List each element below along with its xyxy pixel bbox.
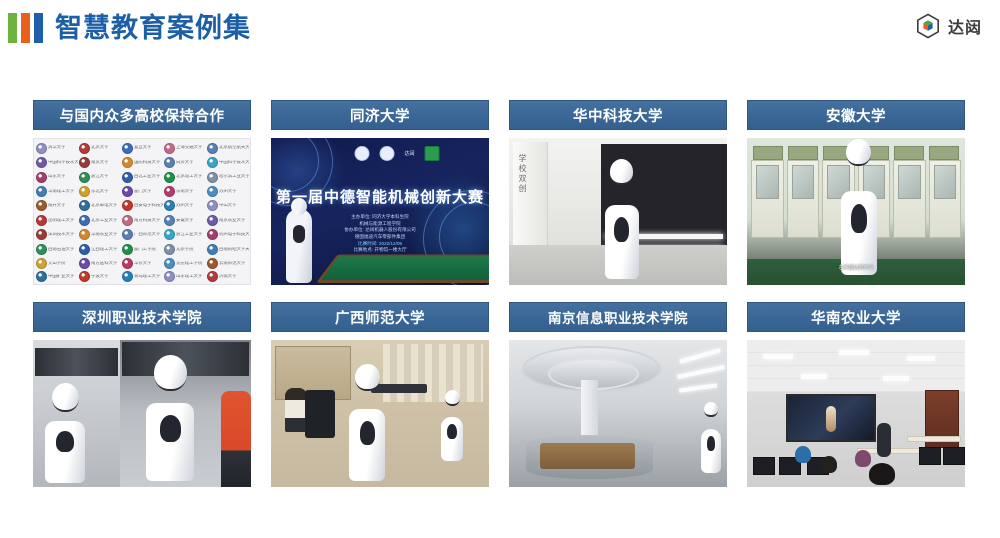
university-name: 哈尔滨工业大学 <box>219 175 249 179</box>
case-cell-tongji[interactable]: 同济大学 达闼 第一届中德智能机械创新大赛 主办单位: 同济大学本科生院 机械与… <box>271 100 489 285</box>
university-name: 南方科技大学 <box>134 218 160 222</box>
university-logo-item: 深圳技术大学 <box>35 228 78 242</box>
university-name: 清华大学 <box>48 146 66 150</box>
university-logo-item: 西北工业大学 <box>121 170 164 184</box>
university-name: 上海交通大学 <box>176 146 202 150</box>
university-name: 江西理工大学 <box>91 247 117 251</box>
university-name: 北京大学 <box>91 146 109 150</box>
university-logo-item: 青岛理工大学 <box>121 271 164 282</box>
robot-graphic <box>146 403 194 481</box>
monitor <box>753 457 775 475</box>
competition-poster-image: 达闼 第一届中德智能机械创新大赛 主办单位: 同济大学本科生院 机械与能源工程学… <box>271 138 489 285</box>
university-logo-item: 昆明理工大学 <box>35 213 78 227</box>
accent-bar-blue <box>34 13 43 43</box>
university-logo-item: 中山大学 <box>206 199 249 213</box>
cabinet <box>787 160 820 238</box>
university-name: 安徽大学 <box>176 218 194 222</box>
university-seal-icon <box>79 215 90 226</box>
case-title: 广西师范大学 <box>271 302 489 332</box>
storage-box <box>894 146 924 160</box>
university-seal-icon <box>36 172 47 183</box>
university-logo-item: 西安电子科技大学 <box>121 199 164 213</box>
university-seal-icon <box>207 157 218 168</box>
brand-seal-icon <box>379 146 394 161</box>
university-logo-item: 北京邮电大学 <box>78 199 121 213</box>
led-light <box>679 348 720 363</box>
photo-panel-left <box>33 340 120 487</box>
case-cell-anhui[interactable]: 安徽大学 <box>747 100 965 285</box>
university-name: 杭州电子科技大学 <box>219 233 249 237</box>
university-name: 广西师范大学 <box>134 233 160 237</box>
university-seal-icon <box>164 258 175 269</box>
university-logo-item: 中国矿业大学 <box>35 271 78 282</box>
led-light <box>679 383 717 392</box>
university-seal-icon <box>122 229 133 240</box>
university-name: 山东大学 <box>48 175 66 179</box>
hexagon-cube-logo-icon <box>915 13 941 39</box>
university-logo-item: 东莞理工学院 <box>163 257 206 271</box>
university-seal-icon <box>79 258 90 269</box>
university-seal-icon <box>207 244 218 255</box>
university-name: 厦门大学 <box>134 189 152 193</box>
university-logo-item: 浙江工业大学 <box>163 228 206 242</box>
person-figure <box>221 391 251 487</box>
futuristic-hall-image <box>509 340 727 487</box>
university-logo-item: 西南石油大学 <box>35 242 78 256</box>
university-seal-icon <box>164 186 175 197</box>
university-seal-icon <box>79 229 90 240</box>
university-logo-item: 安徽大学 <box>163 213 206 227</box>
cabinet-glass <box>934 165 957 199</box>
case-title: 深圳职业技术学院 <box>33 302 251 332</box>
corridor-robot-image: 学校双创 <box>509 138 727 285</box>
case-cell-szpt[interactable]: 深圳职业技术学院 <box>33 302 251 487</box>
university-name: 济南大学 <box>219 274 237 278</box>
university-seal-icon <box>36 229 47 240</box>
university-logo-item: 南方医科大学 <box>78 257 121 271</box>
university-logo-item: 山东理工大学 <box>163 271 206 282</box>
university-logo-item: 复旦大学 <box>121 141 164 155</box>
video-caption: 右手握边界命令 <box>747 264 965 271</box>
storage-box <box>788 146 818 160</box>
university-seal-icon <box>122 157 133 168</box>
accent-bars <box>8 13 43 43</box>
university-seal-icon <box>164 157 175 168</box>
person-figure <box>285 388 307 432</box>
university-seal-icon <box>207 215 218 226</box>
university-seal-icon <box>36 200 47 211</box>
university-seal-icon <box>122 186 133 197</box>
university-seal-icon <box>36 157 47 168</box>
storage-box <box>753 146 783 160</box>
university-name: 中国科学技术大学 <box>48 160 78 164</box>
university-logo-item: 上海交通大学 <box>163 141 206 155</box>
university-name: 北京航空航天大学 <box>219 146 249 150</box>
university-seal-icon <box>36 186 47 197</box>
university-name: 西南财经大学天府学院 <box>219 247 249 251</box>
case-cell-gxnu[interactable]: 广西师范大学 <box>271 302 489 487</box>
university-logo-item: 南方科技大学 <box>121 213 164 227</box>
university-name: 深圳技术大学 <box>48 233 74 237</box>
university-logo-item: 云南师范大学 <box>206 257 249 271</box>
university-seal-icon <box>164 271 175 282</box>
accent-bar-green <box>8 13 17 43</box>
university-name: 东南大学 <box>176 189 194 193</box>
robot-graphic <box>701 429 721 473</box>
university-logo-item: 同济大学 <box>163 155 206 169</box>
university-logo-item: 中国科学技术大学 <box>35 155 78 169</box>
university-logo-item: 西南财经大学天府学院 <box>206 242 249 256</box>
monitor <box>943 447 965 465</box>
university-name: 复旦大学 <box>134 146 152 150</box>
university-name: 昆明理工大学 <box>48 218 74 222</box>
university-seal-icon <box>207 186 218 197</box>
sponsor-seal-icon <box>425 146 440 161</box>
person-figure <box>877 423 891 457</box>
case-title: 与国内众多高校保持合作 <box>33 100 251 130</box>
case-media: 清华大学北京大学复旦大学上海交通大学北京航空航天大学中国科学技术大学南京大学国防… <box>33 138 251 285</box>
university-name: 南方医科大学 <box>91 262 117 266</box>
university-name: 南开大学 <box>48 204 66 208</box>
case-media <box>509 340 727 487</box>
university-seal-icon <box>122 258 133 269</box>
ceiling-lamp <box>883 376 909 381</box>
poster-logo-label: 达闼 <box>404 150 414 157</box>
page-header: 智慧教育案例集 达闼 <box>0 0 1000 56</box>
university-seal-icon <box>207 143 218 154</box>
cabinet-glass <box>756 165 779 199</box>
accent-bar-orange <box>21 13 30 43</box>
ceiling <box>747 340 965 392</box>
university-seal-icon <box>79 143 90 154</box>
robot-graphic <box>841 191 877 275</box>
case-media: 学校双创 <box>509 138 727 285</box>
classroom-robots-image <box>271 340 489 487</box>
university-logo-item: 苏州大学 <box>206 184 249 198</box>
university-name: 云南师范大学 <box>219 262 245 266</box>
cabinet <box>893 160 926 238</box>
ceiling-lamp <box>907 356 935 361</box>
window-strip <box>35 348 118 376</box>
desk-row <box>751 431 961 483</box>
university-seal-icon <box>79 200 90 211</box>
person-figure <box>855 450 871 467</box>
university-seal-icon <box>354 146 369 161</box>
university-logo-item: 宁波大学 <box>78 271 121 282</box>
university-name: 山东理工大学 <box>176 274 202 278</box>
case-title: 安徽大学 <box>747 100 965 130</box>
university-logo-item: 华南理工大学 <box>35 184 78 198</box>
university-seal-icon <box>207 229 218 240</box>
university-seal-icon <box>207 271 218 282</box>
case-media: 达闼 第一届中德智能机械创新大赛 主办单位: 同济大学本科生院 机械与能源工程学… <box>271 138 489 285</box>
university-name: 华南农业大学 <box>91 233 117 237</box>
university-name: 南京大学 <box>91 160 109 164</box>
university-name: 中国矿业大学 <box>48 274 74 278</box>
university-name: 西北工业大学 <box>134 175 160 179</box>
university-logo-item: 厦门工学院 <box>121 242 164 256</box>
university-name: 同济大学 <box>176 160 194 164</box>
university-logo-item: 南京农业大学 <box>206 213 249 227</box>
university-logo-item: 济南大学 <box>206 271 249 282</box>
cabinet-glass <box>898 165 921 199</box>
university-name: 中山大学 <box>219 204 237 208</box>
university-logo-wall: 清华大学北京大学复旦大学上海交通大学北京航空航天大学中国科学技术大学南京大学国防… <box>33 138 251 285</box>
case-media: 右手握边界命令 <box>747 138 965 285</box>
case-cell-scau[interactable]: 华南农业大学 <box>747 302 965 487</box>
service-robots-image <box>33 340 251 487</box>
university-seal-icon <box>207 172 218 183</box>
university-logo-item: 东北大学 <box>78 184 121 198</box>
university-logo-item: 北京大学 <box>78 141 121 155</box>
ceiling-lamp <box>763 354 793 359</box>
university-name: 国防科技大学 <box>134 160 160 164</box>
robot-graphic <box>441 417 463 461</box>
university-name: 西南石油大学 <box>48 247 74 251</box>
university-seal-icon <box>122 215 133 226</box>
university-seal-icon <box>36 143 47 154</box>
ceiling-lamp <box>839 350 869 355</box>
brand-logo: 达闼 <box>915 10 982 42</box>
robot-graphic <box>605 205 639 279</box>
university-name: 苏州大学 <box>176 204 194 208</box>
university-seal-icon <box>164 200 175 211</box>
page-title: 智慧教育案例集 <box>55 15 251 42</box>
case-title: 南京信息职业技术学院 <box>509 302 727 332</box>
university-seal-icon <box>79 244 90 255</box>
computer-classroom-image <box>747 340 965 487</box>
university-logo-item: 南开大学 <box>35 199 78 213</box>
university-seal-icon <box>207 258 218 269</box>
cabinet <box>751 160 784 238</box>
university-logo-item: 广西师范大学 <box>121 228 164 242</box>
led-light <box>677 365 725 379</box>
reception-counter <box>540 443 636 469</box>
robot-graphic <box>349 409 385 481</box>
case-media <box>271 340 489 487</box>
case-media <box>747 340 965 487</box>
photo-panel-right <box>120 340 251 487</box>
university-name: 青岛理工大学 <box>134 274 160 278</box>
university-logo-item: 文山学院 <box>35 257 78 271</box>
university-name: 文山学院 <box>48 262 66 266</box>
cabinet <box>929 160 962 238</box>
screen-figure <box>826 406 836 432</box>
university-logo-item: 山东大学 <box>35 170 78 184</box>
title-block: 智慧教育案例集 <box>8 6 251 50</box>
university-seal-icon <box>36 215 47 226</box>
university-seal-icon <box>207 200 218 211</box>
university-name: 太原学院 <box>176 247 194 251</box>
university-seal-icon <box>79 157 90 168</box>
robot-graphic <box>286 209 312 283</box>
university-seal-icon <box>122 172 133 183</box>
university-name: 浙江大学 <box>91 175 109 179</box>
case-media <box>33 340 251 487</box>
university-name: 北京邮电大学 <box>91 204 117 208</box>
university-logo-item: 中国科学技术大学 <box>206 155 249 169</box>
university-logo-item: 东南大学 <box>163 184 206 198</box>
university-name: 浙江工业大学 <box>176 233 202 237</box>
brand-name: 达闼 <box>948 14 982 38</box>
university-logo-item: 太原学院 <box>163 242 206 256</box>
wall-sign-text: 学校双创 <box>517 154 528 194</box>
university-logo-item: 华侨大学 <box>121 257 164 271</box>
university-seal-icon <box>164 143 175 154</box>
university-logo-item: 江西理工大学 <box>78 242 121 256</box>
robot-graphic <box>45 421 85 483</box>
university-logo-item: 浙江大学 <box>78 170 121 184</box>
university-name: 苏州大学 <box>219 189 237 193</box>
university-logo-item: 华南农业大学 <box>78 228 121 242</box>
podium-desk <box>371 384 427 393</box>
university-logo-item: 哈尔滨工业大学 <box>206 170 249 184</box>
case-cell-njcit[interactable]: 南京信息职业技术学院 <box>509 302 727 487</box>
university-seal-icon <box>36 244 47 255</box>
university-name: 北京工业大学 <box>91 218 117 222</box>
university-seal-icon <box>164 172 175 183</box>
university-seal-icon <box>36 258 47 269</box>
university-name: 西安电子科技大学 <box>134 204 164 208</box>
university-logo-item: 杭州电子科技大学 <box>206 228 249 242</box>
storage-box <box>929 146 959 160</box>
lab-robot-image: 右手握边界命令 <box>747 138 965 285</box>
university-name: 东北大学 <box>91 189 109 193</box>
case-grid: 与国内众多高校保持合作 清华大学北京大学复旦大学上海交通大学北京航空航天大学中国… <box>33 100 967 487</box>
university-name: 中国科学技术大学 <box>219 160 249 164</box>
university-logo-item: 北京理工大学 <box>163 170 206 184</box>
university-logo-item: 清华大学 <box>35 141 78 155</box>
university-name: 华侨大学 <box>134 262 152 266</box>
university-name: 南京农业大学 <box>219 218 245 222</box>
university-seal-icon <box>122 200 133 211</box>
university-logo-item: 北京工业大学 <box>78 213 121 227</box>
university-seal-icon <box>164 215 175 226</box>
case-cell-hust[interactable]: 华中科技大学 学校双创 <box>509 100 727 285</box>
university-seal-icon <box>79 186 90 197</box>
person-figure <box>821 456 837 473</box>
curtain-window <box>383 344 483 402</box>
university-logo-item: 苏州大学 <box>163 199 206 213</box>
cabinet-glass <box>792 165 815 199</box>
ceiling-lamp <box>801 374 827 379</box>
university-seal-icon <box>36 271 47 282</box>
university-seal-icon <box>122 244 133 255</box>
billiard-table-graphic <box>316 255 489 283</box>
case-title: 华中科技大学 <box>509 100 727 130</box>
university-name: 宁波大学 <box>91 274 109 278</box>
university-logo-item: 北京航空航天大学 <box>206 141 249 155</box>
university-name: 华南理工大学 <box>48 189 74 193</box>
university-seal-icon <box>79 271 90 282</box>
university-name: 厦门工学院 <box>134 247 156 251</box>
university-seal-icon <box>79 172 90 183</box>
chair <box>305 390 335 438</box>
person-figure <box>869 463 895 485</box>
case-cell-partners[interactable]: 与国内众多高校保持合作 清华大学北京大学复旦大学上海交通大学北京航空航天大学中国… <box>33 100 251 285</box>
university-name: 北京理工大学 <box>176 175 202 179</box>
monitor <box>919 447 941 465</box>
case-title: 华南农业大学 <box>747 302 965 332</box>
university-seal-icon <box>122 143 133 154</box>
university-logo-item: 南京大学 <box>78 155 121 169</box>
university-seal-icon <box>164 244 175 255</box>
person-figure <box>795 446 811 463</box>
poster-logo-row: 达闼 <box>354 146 439 161</box>
university-seal-icon <box>164 229 175 240</box>
university-logo-item: 国防科技大学 <box>121 155 164 169</box>
case-title: 同济大学 <box>271 100 489 130</box>
university-name: 东莞理工学院 <box>176 262 202 266</box>
university-logo-item: 厦门大学 <box>121 184 164 198</box>
university-seal-icon <box>122 271 133 282</box>
